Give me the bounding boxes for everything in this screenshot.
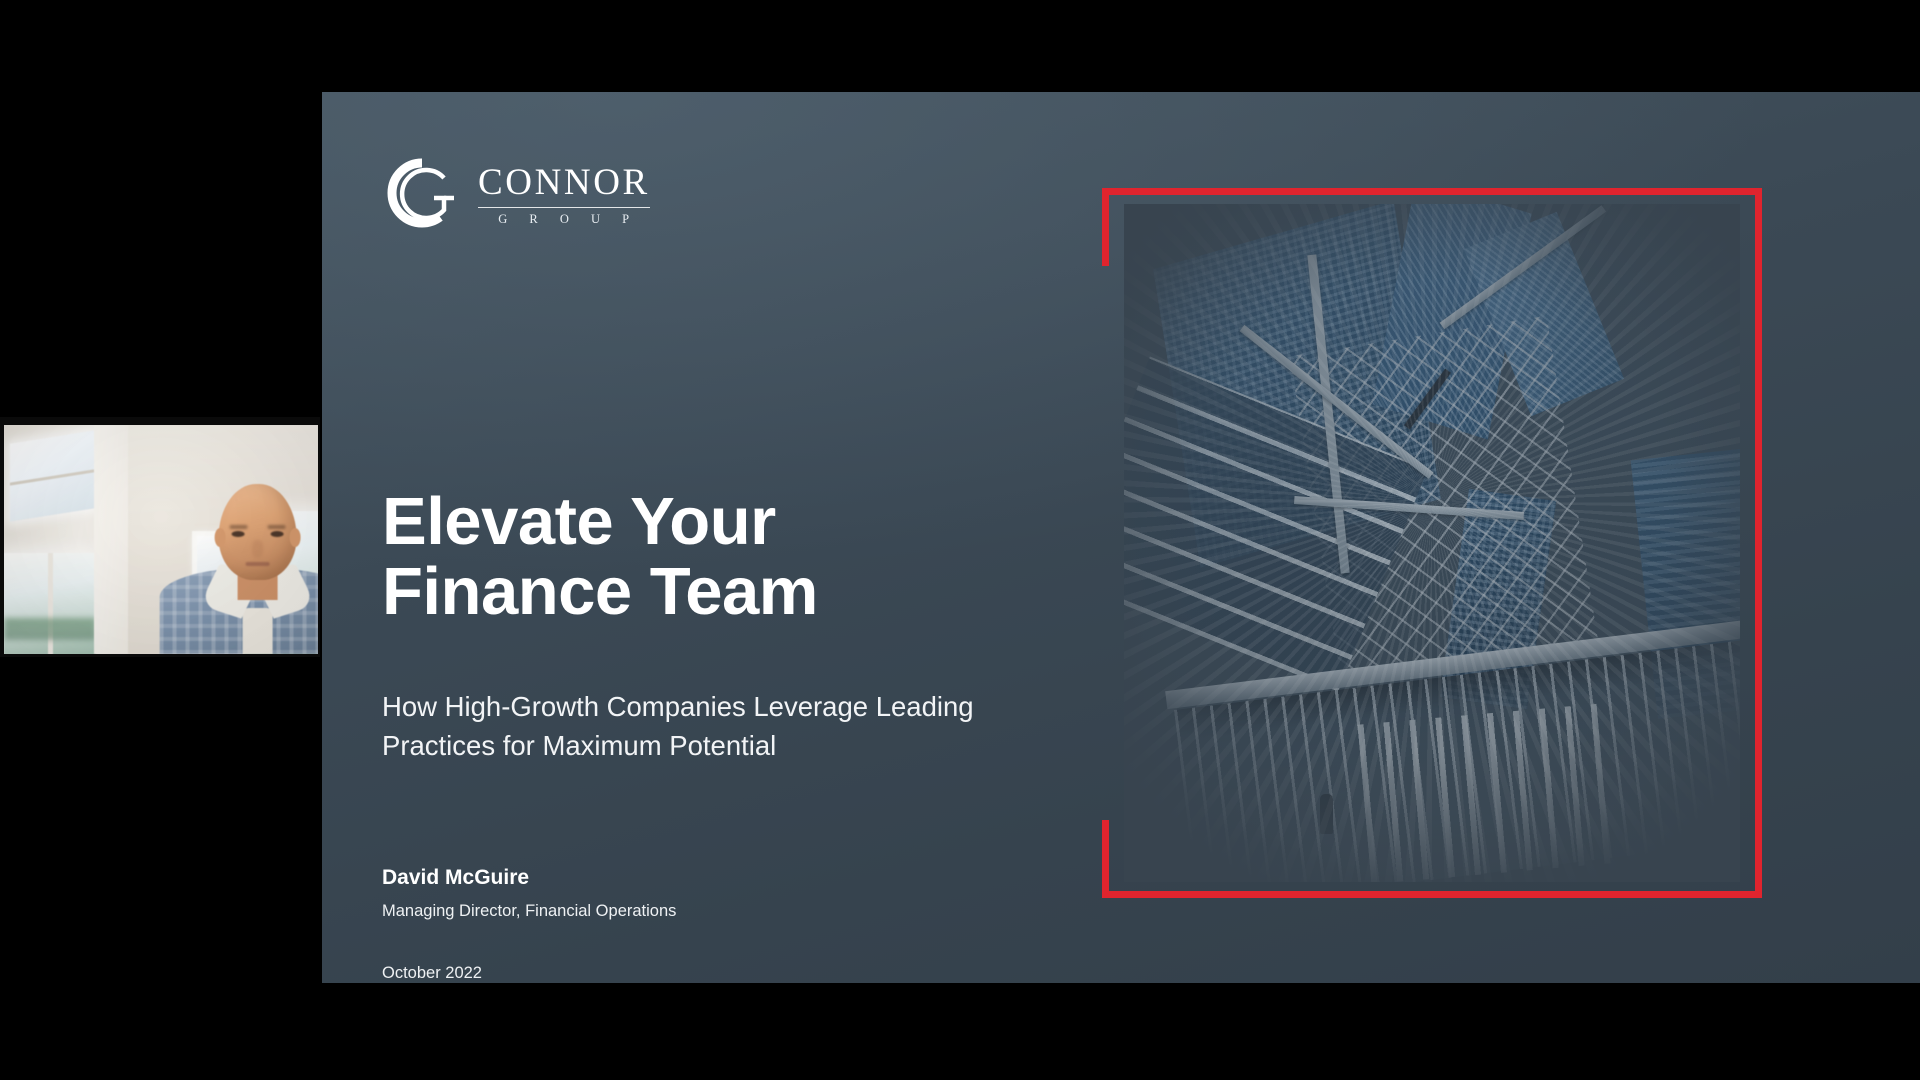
red-frame-right [1755,188,1762,898]
presenter-title: Managing Director, Financial Operations [382,902,676,921]
logo-wordmark: CONNOR G R O U P [478,160,650,227]
participant-video-feed [4,425,318,654]
architecture-photo [1124,204,1740,882]
photo-scene [1124,204,1740,882]
red-frame-bottom [1102,891,1762,898]
slide-hero-image-block [1102,188,1762,898]
presenter-name: David McGuire [382,866,529,890]
slide-date: October 2022 [382,964,482,983]
person-silhouette [1320,794,1333,834]
cg-monogram-icon [382,156,460,230]
atrium-pillars [1357,704,1610,882]
logo-divider-rule [478,207,650,208]
participant-video-tile[interactable] [0,417,320,657]
red-frame-left-bracket-bottom [1102,820,1109,898]
connor-group-logo: CONNOR G R O U P [382,154,650,232]
red-frame-left-bracket-top [1102,188,1109,266]
slide-subheadline: How High-Growth Companies Leverage Leadi… [382,687,974,765]
webcam-soft-focus-overlay [4,425,318,654]
meeting-screen-share-view: CONNOR G R O U P Elevate Your Finance Te… [0,0,1920,1080]
participant-filmstrip [0,0,320,1080]
logo-group-text: G R O U P [478,212,650,227]
logo-connor-text: CONNOR [478,164,650,201]
shared-slide: CONNOR G R O U P Elevate Your Finance Te… [322,92,1920,983]
red-frame-top [1102,188,1762,195]
slide-headline: Elevate Your Finance Team [382,487,818,626]
